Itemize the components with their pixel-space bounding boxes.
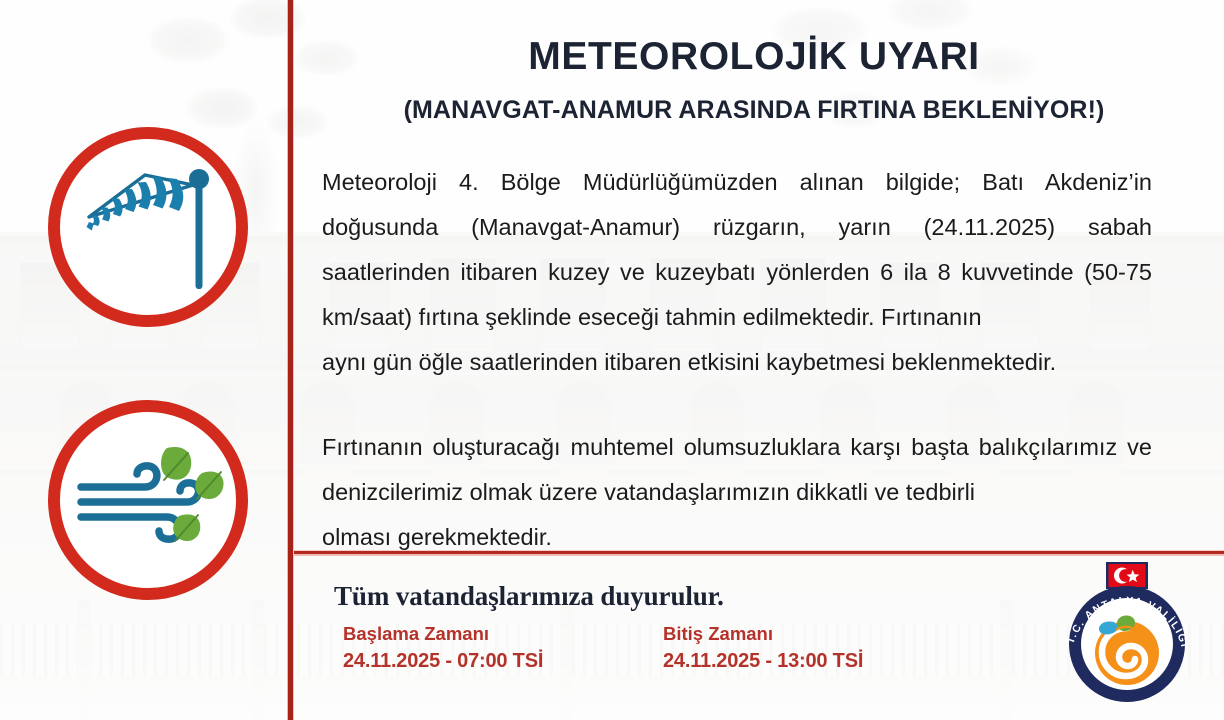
- paragraph-2: Fırtınanın oluşturacağı muhtemel olumsuz…: [322, 425, 1152, 560]
- wind-leaves-icon-badge: [48, 400, 248, 600]
- paragraph-1-text: Meteoroloji 4. Bölge Müdürlüğümüzden alı…: [322, 169, 1152, 330]
- vertical-divider: [287, 0, 294, 720]
- paragraph-2-last-line: olması gerekmektedir.: [322, 515, 1152, 560]
- meteorological-warning-poster: METEOROLOJİK UYARI (MANAVGAT-ANAMUR ARAS…: [0, 0, 1224, 720]
- page-title: METEOROLOJİK UYARI: [294, 36, 1214, 79]
- windsock-icon: [73, 157, 223, 297]
- start-time-value: 24.11.2025 - 07:00 TSİ: [343, 647, 543, 675]
- windsock-icon-badge: [48, 127, 248, 327]
- start-time-label: Başlama Zamanı: [343, 621, 543, 647]
- turkish-flag-icon: [1106, 562, 1148, 589]
- paragraph-1-last-line: aynı gün öğle saatlerinden itibaren etki…: [322, 340, 1152, 385]
- end-time-value: 24.11.2025 - 13:00 TSİ: [663, 647, 863, 675]
- end-time-block: Bitiş Zamanı 24.11.2025 - 13:00 TSİ: [663, 621, 863, 675]
- wind-leaves-icon: [71, 438, 226, 563]
- paragraph-2-text: Fırtınanın oluşturacağı muhtemel olumsuz…: [322, 434, 1152, 505]
- antalya-governorship-logo: T.C. ANTALYA VALİLİĞİ: [1052, 556, 1202, 706]
- body-text: Meteoroloji 4. Bölge Müdürlüğümüzden alı…: [322, 160, 1152, 560]
- page-subtitle: (MANAVGAT-ANAMUR ARASINDA FIRTINA BEKLEN…: [294, 95, 1214, 125]
- start-time-block: Başlama Zamanı 24.11.2025 - 07:00 TSİ: [343, 621, 543, 675]
- announcement-text: Tüm vatandaşlarımıza duyurulur.: [334, 581, 724, 612]
- paragraph-1: Meteoroloji 4. Bölge Müdürlüğümüzden alı…: [322, 160, 1152, 385]
- end-time-label: Bitiş Zamanı: [663, 621, 863, 647]
